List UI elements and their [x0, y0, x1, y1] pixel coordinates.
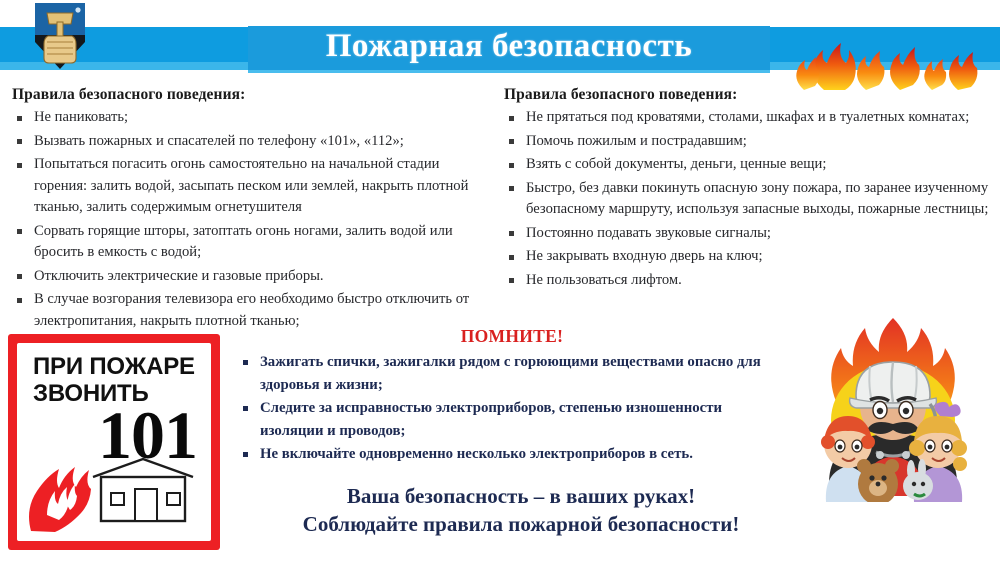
firefighter-rescuing-children-icon [790, 312, 996, 502]
list-item: Быстро, без давки покинуть опасную зону … [500, 178, 994, 221]
right-rules-list: Не прятаться под кроватями, столами, шка… [500, 107, 994, 291]
left-column: Правила безопасного поведения: Не панико… [8, 86, 490, 358]
fire-safety-poster: Пожарная безопасность [0, 0, 1000, 562]
list-item: Взять с собой документы, деньги, ценные … [500, 154, 994, 176]
list-item: Сорвать горящие шторы, затоптать огонь н… [8, 221, 490, 264]
slogans-block: Ваша безопасность – в ваших руках! Соблю… [236, 482, 806, 538]
burning-house-with-flame-icon [23, 419, 207, 539]
left-rules-list: Не паниковать; Вызвать пожарных и спасат… [8, 107, 490, 356]
emergency-call-sign: ПРИ ПОЖАРЕ ЗВОНИТЬ 101 [8, 334, 220, 550]
emergency-call-sign-inner: ПРИ ПОЖАРЕ ЗВОНИТЬ 101 [17, 343, 211, 541]
coat-of-arms-hammer-in-hand-icon [33, 2, 87, 70]
list-item: Не прятаться под кроватями, столами, шка… [500, 107, 994, 129]
list-item: Попытаться погасить огонь самостоятельно… [8, 154, 490, 219]
slogan-line-2: Соблюдайте правила пожарной безопасности… [236, 510, 806, 538]
remember-title: ПОМНИТЕ! [236, 326, 788, 347]
flames-icon [762, 14, 998, 92]
page-title: Пожарная безопасность [248, 24, 770, 68]
list-item: Вызвать пожарных и спасателей по телефон… [8, 131, 490, 153]
list-item: Не включайте одновременно несколько элек… [236, 443, 788, 466]
list-item: Не закрывать входную дверь на ключ; [500, 246, 994, 268]
list-item: Отключить электрические и газовые прибор… [8, 266, 490, 288]
right-column-heading: Правила безопасного поведения: [504, 86, 994, 104]
list-item: Следите за исправностью электроприборов,… [236, 397, 788, 443]
list-item: Не пользоваться лифтом. [500, 270, 994, 292]
list-item: Зажигать спички, зажигалки рядом с горюю… [236, 351, 788, 397]
remember-block: ПОМНИТЕ! Зажигать спички, зажигалки рядо… [236, 326, 788, 466]
list-item: Постоянно подавать звуковые сигналы; [500, 223, 994, 245]
slogan-line-1: Ваша безопасность – в ваших руках! [236, 482, 806, 510]
remember-list: Зажигать спички, зажигалки рядом с горюю… [236, 351, 788, 466]
list-item: Помочь пожилым и пострадавшим; [500, 131, 994, 153]
sign-line-1: ПРИ ПОЖАРЕ [33, 353, 195, 381]
left-column-heading: Правила безопасного поведения: [12, 86, 490, 104]
list-item: Не паниковать; [8, 107, 490, 129]
right-column: Правила безопасного поведения: Не прятат… [500, 86, 994, 293]
